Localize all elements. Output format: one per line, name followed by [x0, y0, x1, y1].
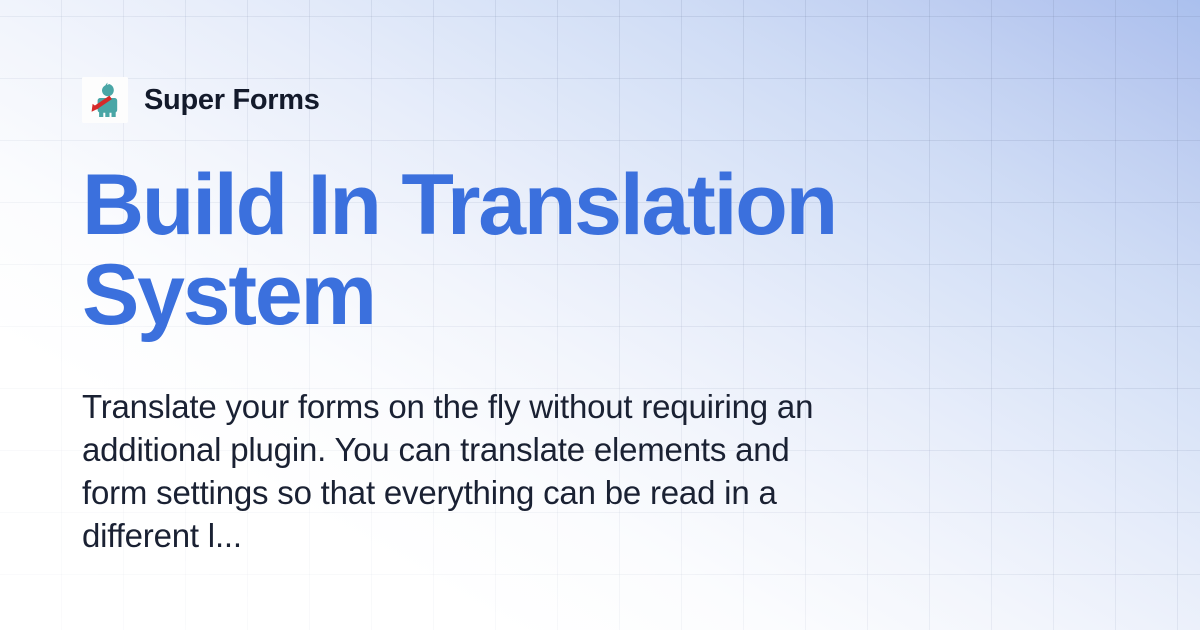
- super-forms-person-arrow-logo-icon: [82, 77, 128, 123]
- og-card: Super Forms Build In Translation System …: [0, 0, 1200, 630]
- brand-name: Super Forms: [144, 86, 320, 115]
- page-title: Build In Translation System: [82, 160, 1062, 341]
- page-description: Translate your forms on the fly without …: [82, 385, 862, 557]
- card-content: Super Forms Build In Translation System …: [0, 0, 1200, 630]
- brand-row: Super Forms: [82, 76, 1120, 124]
